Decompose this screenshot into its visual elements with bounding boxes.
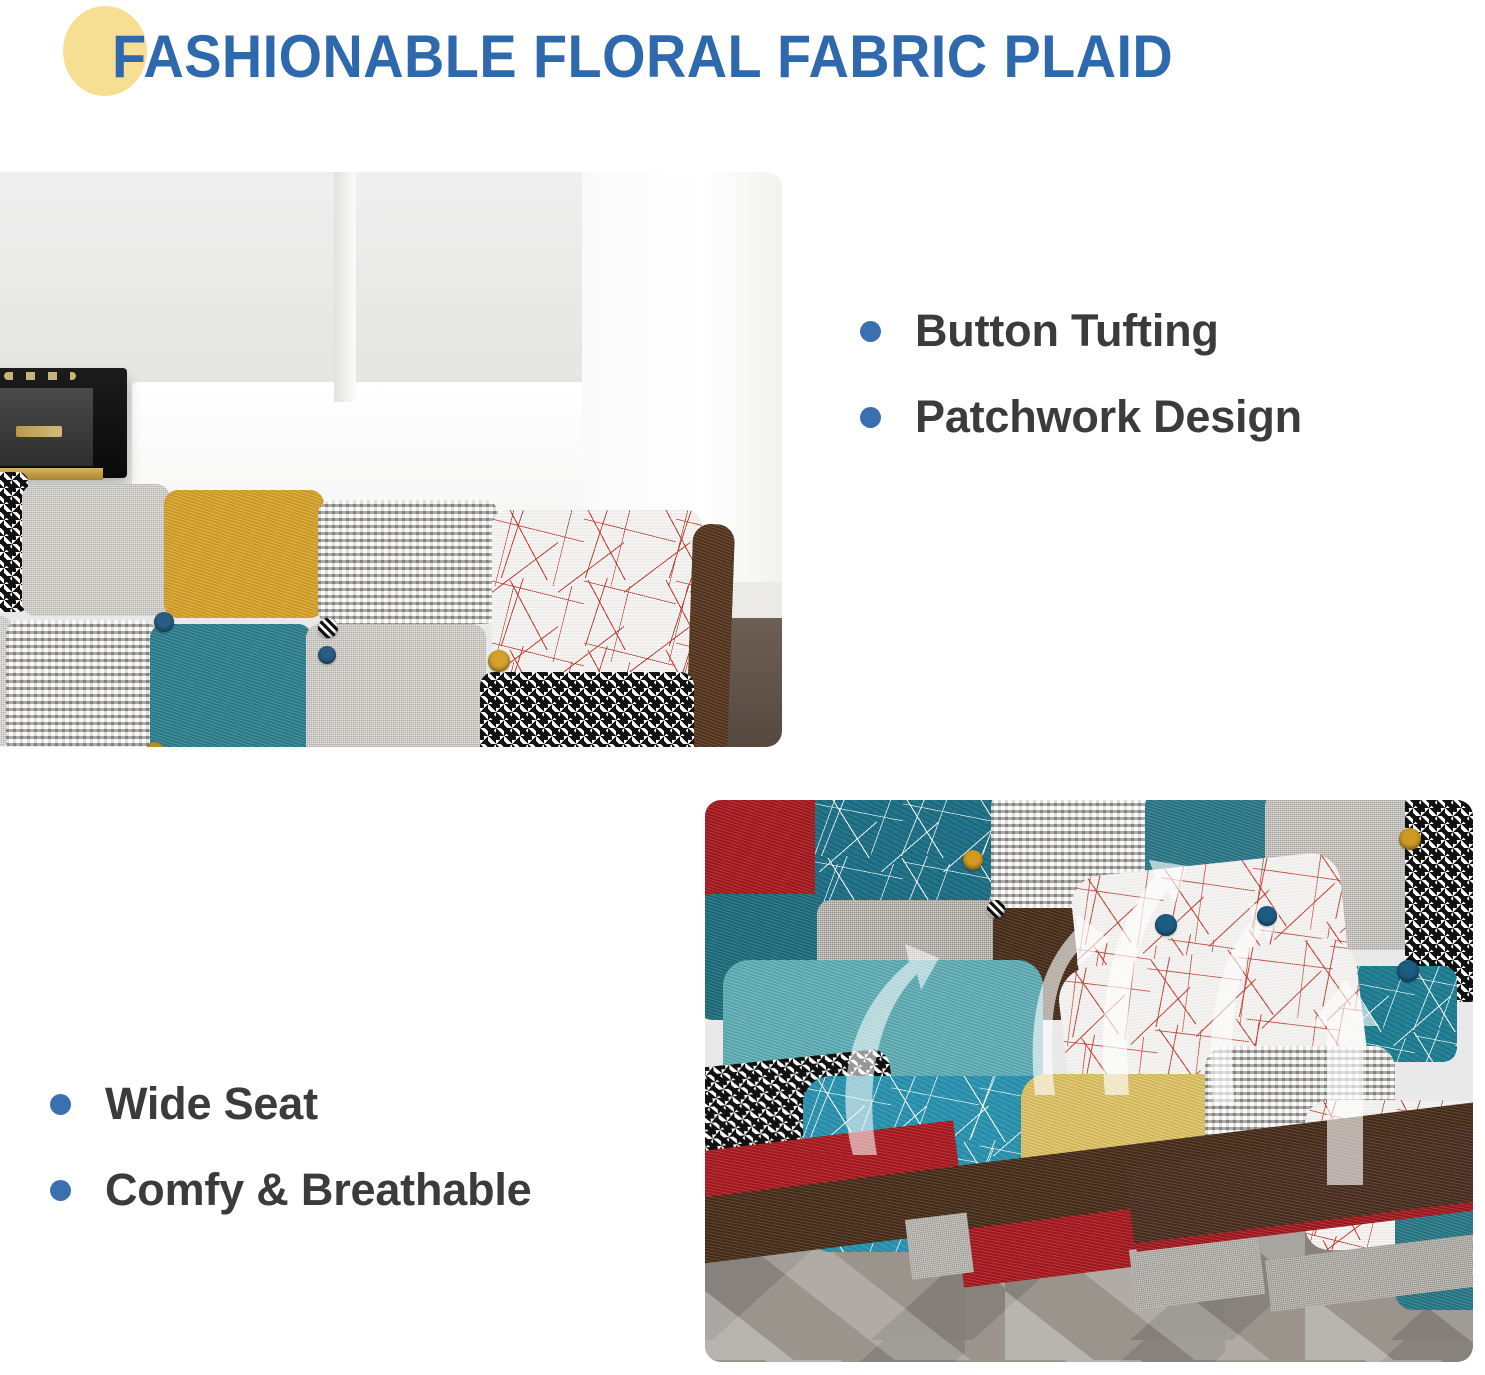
tufting-button-7 xyxy=(318,646,336,664)
seat-scene xyxy=(705,800,1473,1362)
page-header: FASHIONABLE FLORAL FABRIC PLAID xyxy=(0,0,1485,150)
tufting-button-b1 xyxy=(963,850,983,870)
feature-label: Comfy & Breathable xyxy=(105,1164,532,1216)
tufting-button-b6 xyxy=(1397,960,1419,982)
airflow-arrow-3 xyxy=(1177,860,1287,1110)
speaker-knobs xyxy=(4,372,76,380)
tufting-button-3 xyxy=(488,650,510,672)
patch-basketweave-row2 xyxy=(6,620,156,747)
feature-list-left: Wide Seat Comfy & Breathable xyxy=(50,1078,690,1250)
tufting-button-b3 xyxy=(1155,914,1177,936)
airflow-arrow-5 xyxy=(813,900,943,1160)
base-band-grey-1 xyxy=(905,1212,974,1279)
product-feature-page: FASHIONABLE FLORAL FABRIC PLAID xyxy=(0,0,1485,1375)
patch-basketweave-top xyxy=(318,500,498,624)
bullet-dot-icon xyxy=(50,1094,71,1115)
tufting-button-b4 xyxy=(1257,906,1277,926)
patch-teal-row2 xyxy=(150,624,312,747)
door-frame xyxy=(334,172,356,402)
page-title: FASHIONABLE FLORAL FABRIC PLAID xyxy=(112,22,1173,91)
feature-label: Wide Seat xyxy=(105,1078,318,1130)
feature-item-patchwork-design: Patchwork Design xyxy=(860,391,1460,443)
tufting-button-2 xyxy=(318,618,338,638)
feature-item-wide-seat: Wide Seat xyxy=(50,1078,690,1130)
bullet-dot-icon xyxy=(860,407,881,428)
tufting-button-1 xyxy=(154,612,174,632)
feature-list-right: Button Tufting Patchwork Design xyxy=(860,305,1460,477)
patch-grey-top-1 xyxy=(22,484,170,616)
patch-grey-row2-b xyxy=(306,624,486,747)
feature-item-comfy-breathable: Comfy & Breathable xyxy=(50,1164,690,1216)
patch-redprint-top xyxy=(492,510,702,678)
patch-yellow-top xyxy=(164,490,324,618)
airflow-arrow-2 xyxy=(1071,820,1191,1100)
speaker-logo xyxy=(16,426,62,437)
patch-houndstooth-row2 xyxy=(480,672,694,747)
tufting-button-b5 xyxy=(1399,828,1421,850)
bullet-dot-icon xyxy=(860,321,881,342)
feature-label: Patchwork Design xyxy=(915,391,1302,443)
airflow-arrow-4 xyxy=(1295,960,1395,1190)
feature-item-button-tufting: Button Tufting xyxy=(860,305,1460,357)
feature-label: Button Tufting xyxy=(915,305,1219,357)
tufting-button-b2 xyxy=(987,900,1005,918)
sofa-backrest-photo xyxy=(0,172,782,747)
sofa-seat-photo xyxy=(705,800,1473,1362)
backrest-scene xyxy=(0,172,782,747)
bullet-dot-icon xyxy=(50,1180,71,1201)
